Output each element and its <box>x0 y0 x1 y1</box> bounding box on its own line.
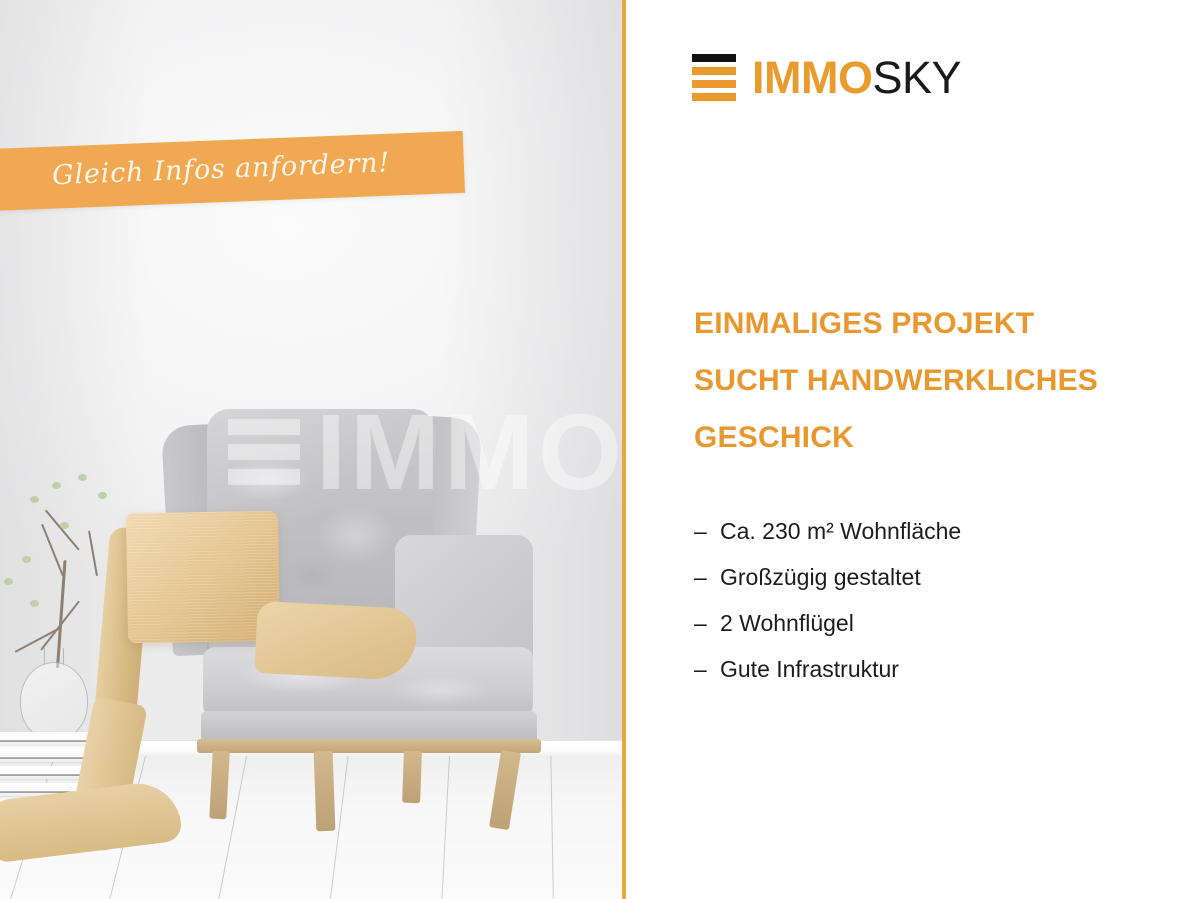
list-item: –2 Wohnflügel <box>694 600 1184 646</box>
bullet-dash: – <box>694 600 720 646</box>
bullet-dash: – <box>694 646 720 692</box>
info-panel: IMMOSKY EINMALIGES PROJEKT SUCHT HANDWER… <box>626 0 1200 899</box>
hamburger-bars-logo-icon <box>692 54 736 101</box>
list-item: –Ca. 230 m² Wohnfläche <box>694 508 1184 554</box>
headline-line-3: GESCHICK <box>694 409 1184 466</box>
logo-word-sky: SKY <box>872 52 961 103</box>
chair-leg <box>402 751 422 804</box>
chair-leg <box>209 751 230 820</box>
list-item-label: Gute Infrastruktur <box>720 656 899 682</box>
bullet-dash: – <box>694 554 720 600</box>
glass-vase <box>20 662 88 740</box>
logo-word-immo: IMMO <box>752 52 872 103</box>
throw-blanket-seat <box>254 601 418 681</box>
interior-photo: IMMO Gleich Infos anfordern! <box>0 0 622 899</box>
property-flyer: IMMO Gleich Infos anfordern! IMMOSKY EIN… <box>0 0 1200 899</box>
bullet-dash: – <box>694 508 720 554</box>
headline-line-2: SUCHT HANDWERKLICHES <box>694 352 1184 409</box>
chair-leg <box>489 750 521 830</box>
list-item-label: Großzügig gestaltet <box>720 564 921 590</box>
chair-wood-rail <box>197 739 541 753</box>
chair-arm-right <box>395 535 533 663</box>
immosky-logo[interactable]: IMMOSKY <box>692 54 961 101</box>
chair-leg <box>314 751 336 832</box>
list-item: –Gute Infrastruktur <box>694 646 1184 692</box>
feature-list: –Ca. 230 m² Wohnfläche –Großzügig gestal… <box>694 508 1184 692</box>
page-title: EINMALIGES PROJEKT SUCHT HANDWERKLICHES … <box>694 295 1184 466</box>
list-item-label: Ca. 230 m² Wohnfläche <box>720 518 961 544</box>
list-item-label: 2 Wohnflügel <box>720 610 854 636</box>
list-item: –Großzügig gestaltet <box>694 554 1184 600</box>
logo-wordmark: IMMOSKY <box>752 55 961 100</box>
headline-line-1: EINMALIGES PROJEKT <box>694 295 1184 352</box>
